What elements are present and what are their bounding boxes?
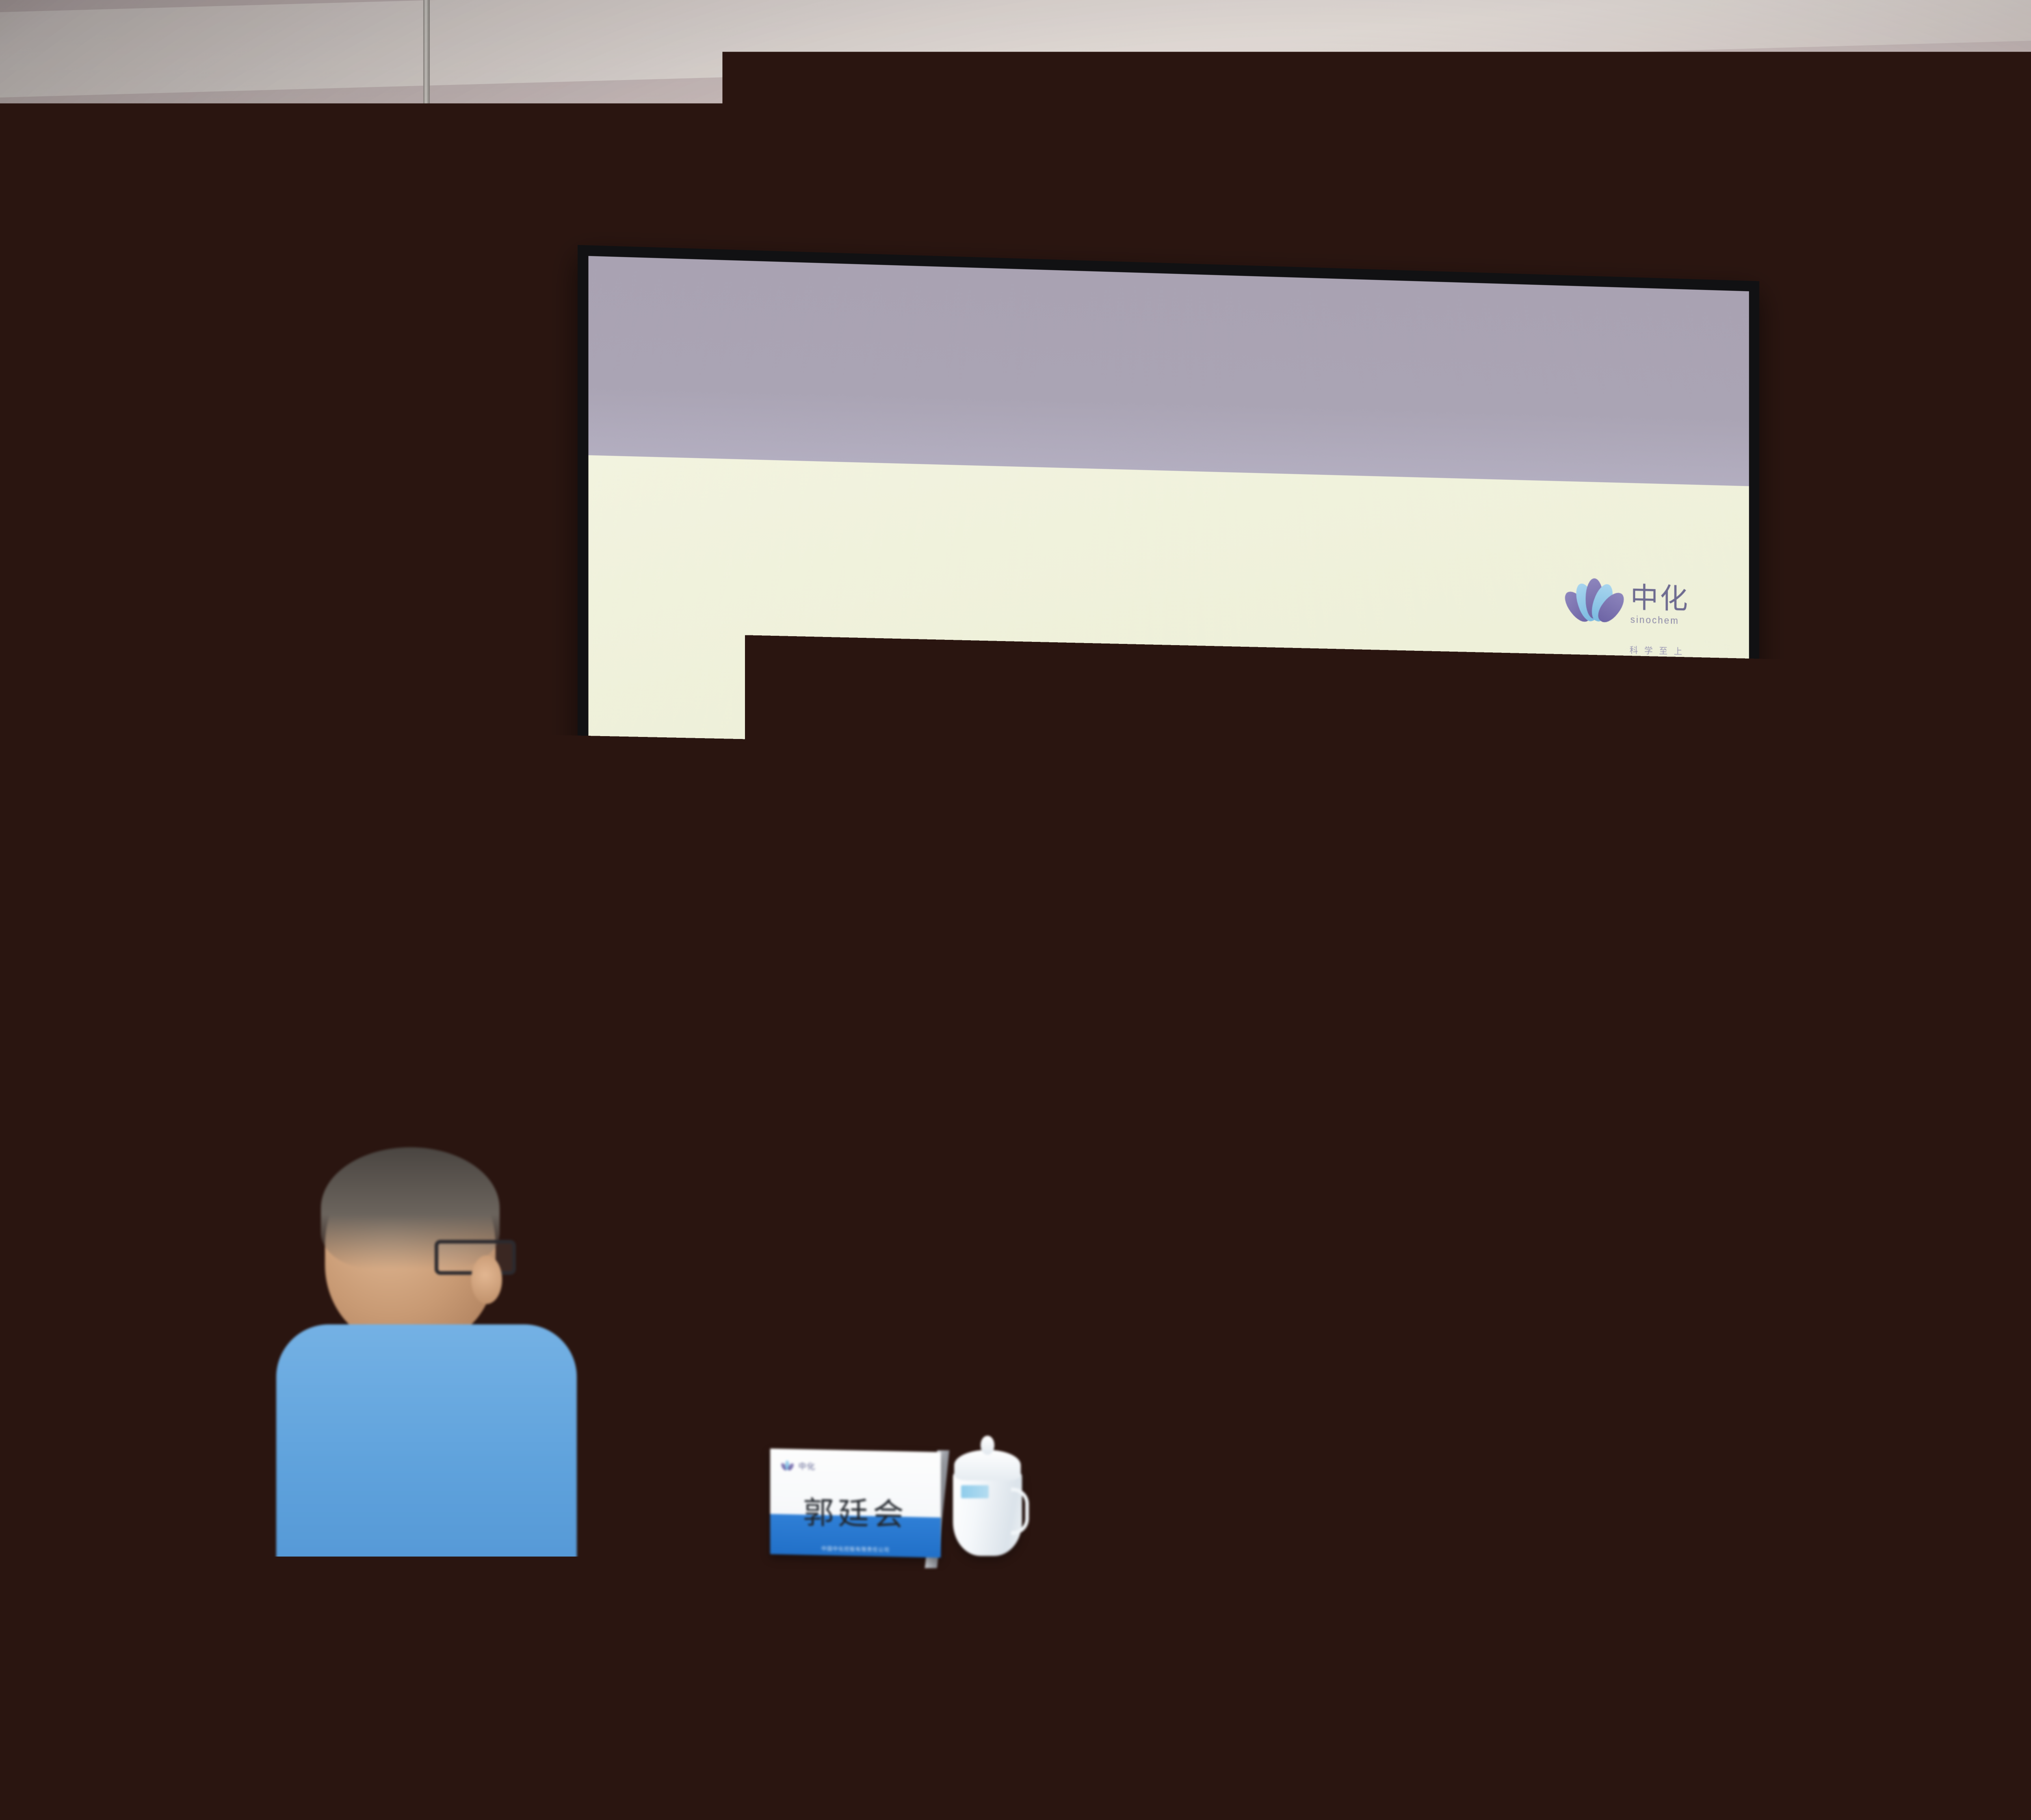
audience-hair [0,1272,240,1637]
audience-hair [496,1284,739,1458]
sinochem-petal-icon [1086,1109,1108,1127]
water-bottle[interactable] [279,1556,348,1751]
speaker-mouth [991,912,1059,929]
thermos-carafe[interactable] [1038,1311,1132,1482]
audience-shirt [0,1625,301,1820]
speaker-company-badge: 中化 [1080,1099,1174,1136]
nameplate-footer: 中国中化控股有限责任公司 [770,1543,941,1555]
audience-person [0,1276,317,1820]
nameplate: 中化 郭廷会 中国中化控股有限责任公司 [770,1449,941,1558]
microphone-foam-ring [1024,1060,1063,1081]
projector-mount-pole [423,0,430,211]
teacup-knob [981,1436,994,1454]
wall-panel [1999,134,2031,1523]
speaker-badge-brand: 中化 [1112,1110,1141,1124]
sinochem-tagline: 科学至上 [1630,643,1689,657]
projector-ports [303,263,438,287]
photo-scene: 中化 sinochem 科学至上 沈阳化工工段长学习交流会 ——交流研讨 202… [0,0,2031,1820]
teacup[interactable] [1580,1454,1661,1588]
chair-headrest [1986,1465,2031,1519]
teacup[interactable] [953,1438,1022,1556]
sinochem-logo: 中化 sinochem [1569,582,1689,626]
sinochem-logo-cn: 中化 [1630,583,1689,613]
speaker-jacket-pocket [922,1150,1011,1155]
bottle-label [1256,1520,1307,1549]
screen-unlit-band [589,256,1749,486]
teacup-logo-icon [1590,1508,1622,1523]
water-bottle[interactable] [709,1397,770,1572]
speaker-nose [1009,873,1038,907]
nameplate-name: 郭廷会 [770,1486,941,1535]
bottle-label [279,1690,347,1727]
speaker-jacket-pocket [1080,1150,1170,1155]
speaker-eyebrow [1047,833,1096,838]
speaker-name-badge [922,1097,1016,1134]
sinochem-logo-en: sinochem [1630,614,1689,626]
office-chair[interactable] [1978,1479,2031,1820]
bottle-label [710,1518,769,1551]
slide-footer-cn: 中国中化控股有限责任公司 [1508,1114,1700,1139]
nameplate-name: 长伟 [1420,1484,1578,1530]
teacup-handle [1648,1511,1669,1564]
teacup-logo-icon [961,1485,989,1498]
nameplate-logo: 中化 [782,1459,815,1472]
speaker-eyebrow [951,833,1000,838]
teacup-knob [1613,1452,1629,1473]
nameplate: 长伟 中国中化控股有限责任公司 [1420,1454,1578,1558]
nameplate-footer: 中国中化控股有限责任公司 [1420,1545,1578,1555]
water-bottle[interactable] [1255,1414,1308,1568]
sinochem-petal-icon [1569,582,1620,625]
slide-footer: 中国中化控股有限责任公司 Sinochem Holdings Corporati… [1508,1114,1700,1153]
nameplate-brand: 中化 [798,1460,815,1472]
wall-seam [1990,134,1999,1523]
